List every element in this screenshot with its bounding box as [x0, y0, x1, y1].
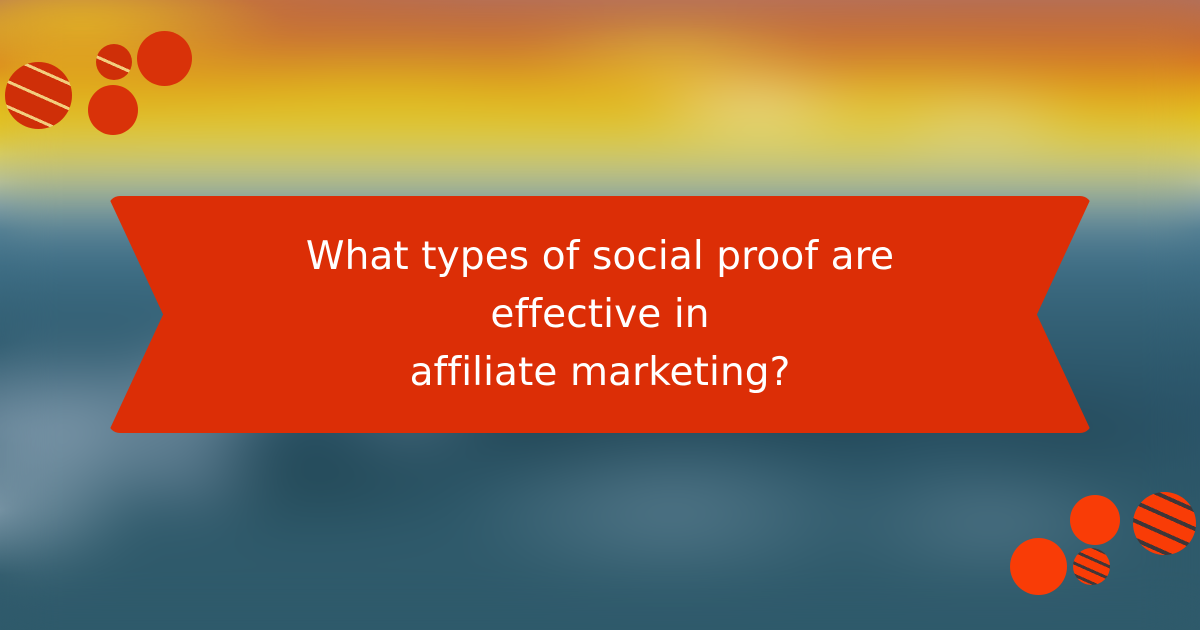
circle-tl-striped-large-icon — [5, 62, 72, 129]
circle-br-solid-mid-icon — [1070, 495, 1120, 545]
circle-tl-striped-small-icon — [96, 44, 132, 80]
circle-br-striped-small-icon — [1073, 548, 1110, 585]
banner-image-canvas: What types of social proof are effective… — [0, 0, 1200, 630]
page-title-line-1: What types of social proof are effective… — [220, 228, 980, 344]
circle-br-solid-large-icon — [1010, 538, 1067, 595]
circle-br-striped-large-icon — [1133, 492, 1196, 555]
page-title-line-2: affiliate marketing? — [220, 344, 980, 402]
circle-tl-solid-mid-icon — [88, 85, 138, 135]
circle-tl-solid-large-icon — [137, 31, 192, 86]
page-title: What types of social proof are effective… — [220, 228, 980, 402]
ribbon-banner: What types of social proof are effective… — [108, 196, 1092, 433]
